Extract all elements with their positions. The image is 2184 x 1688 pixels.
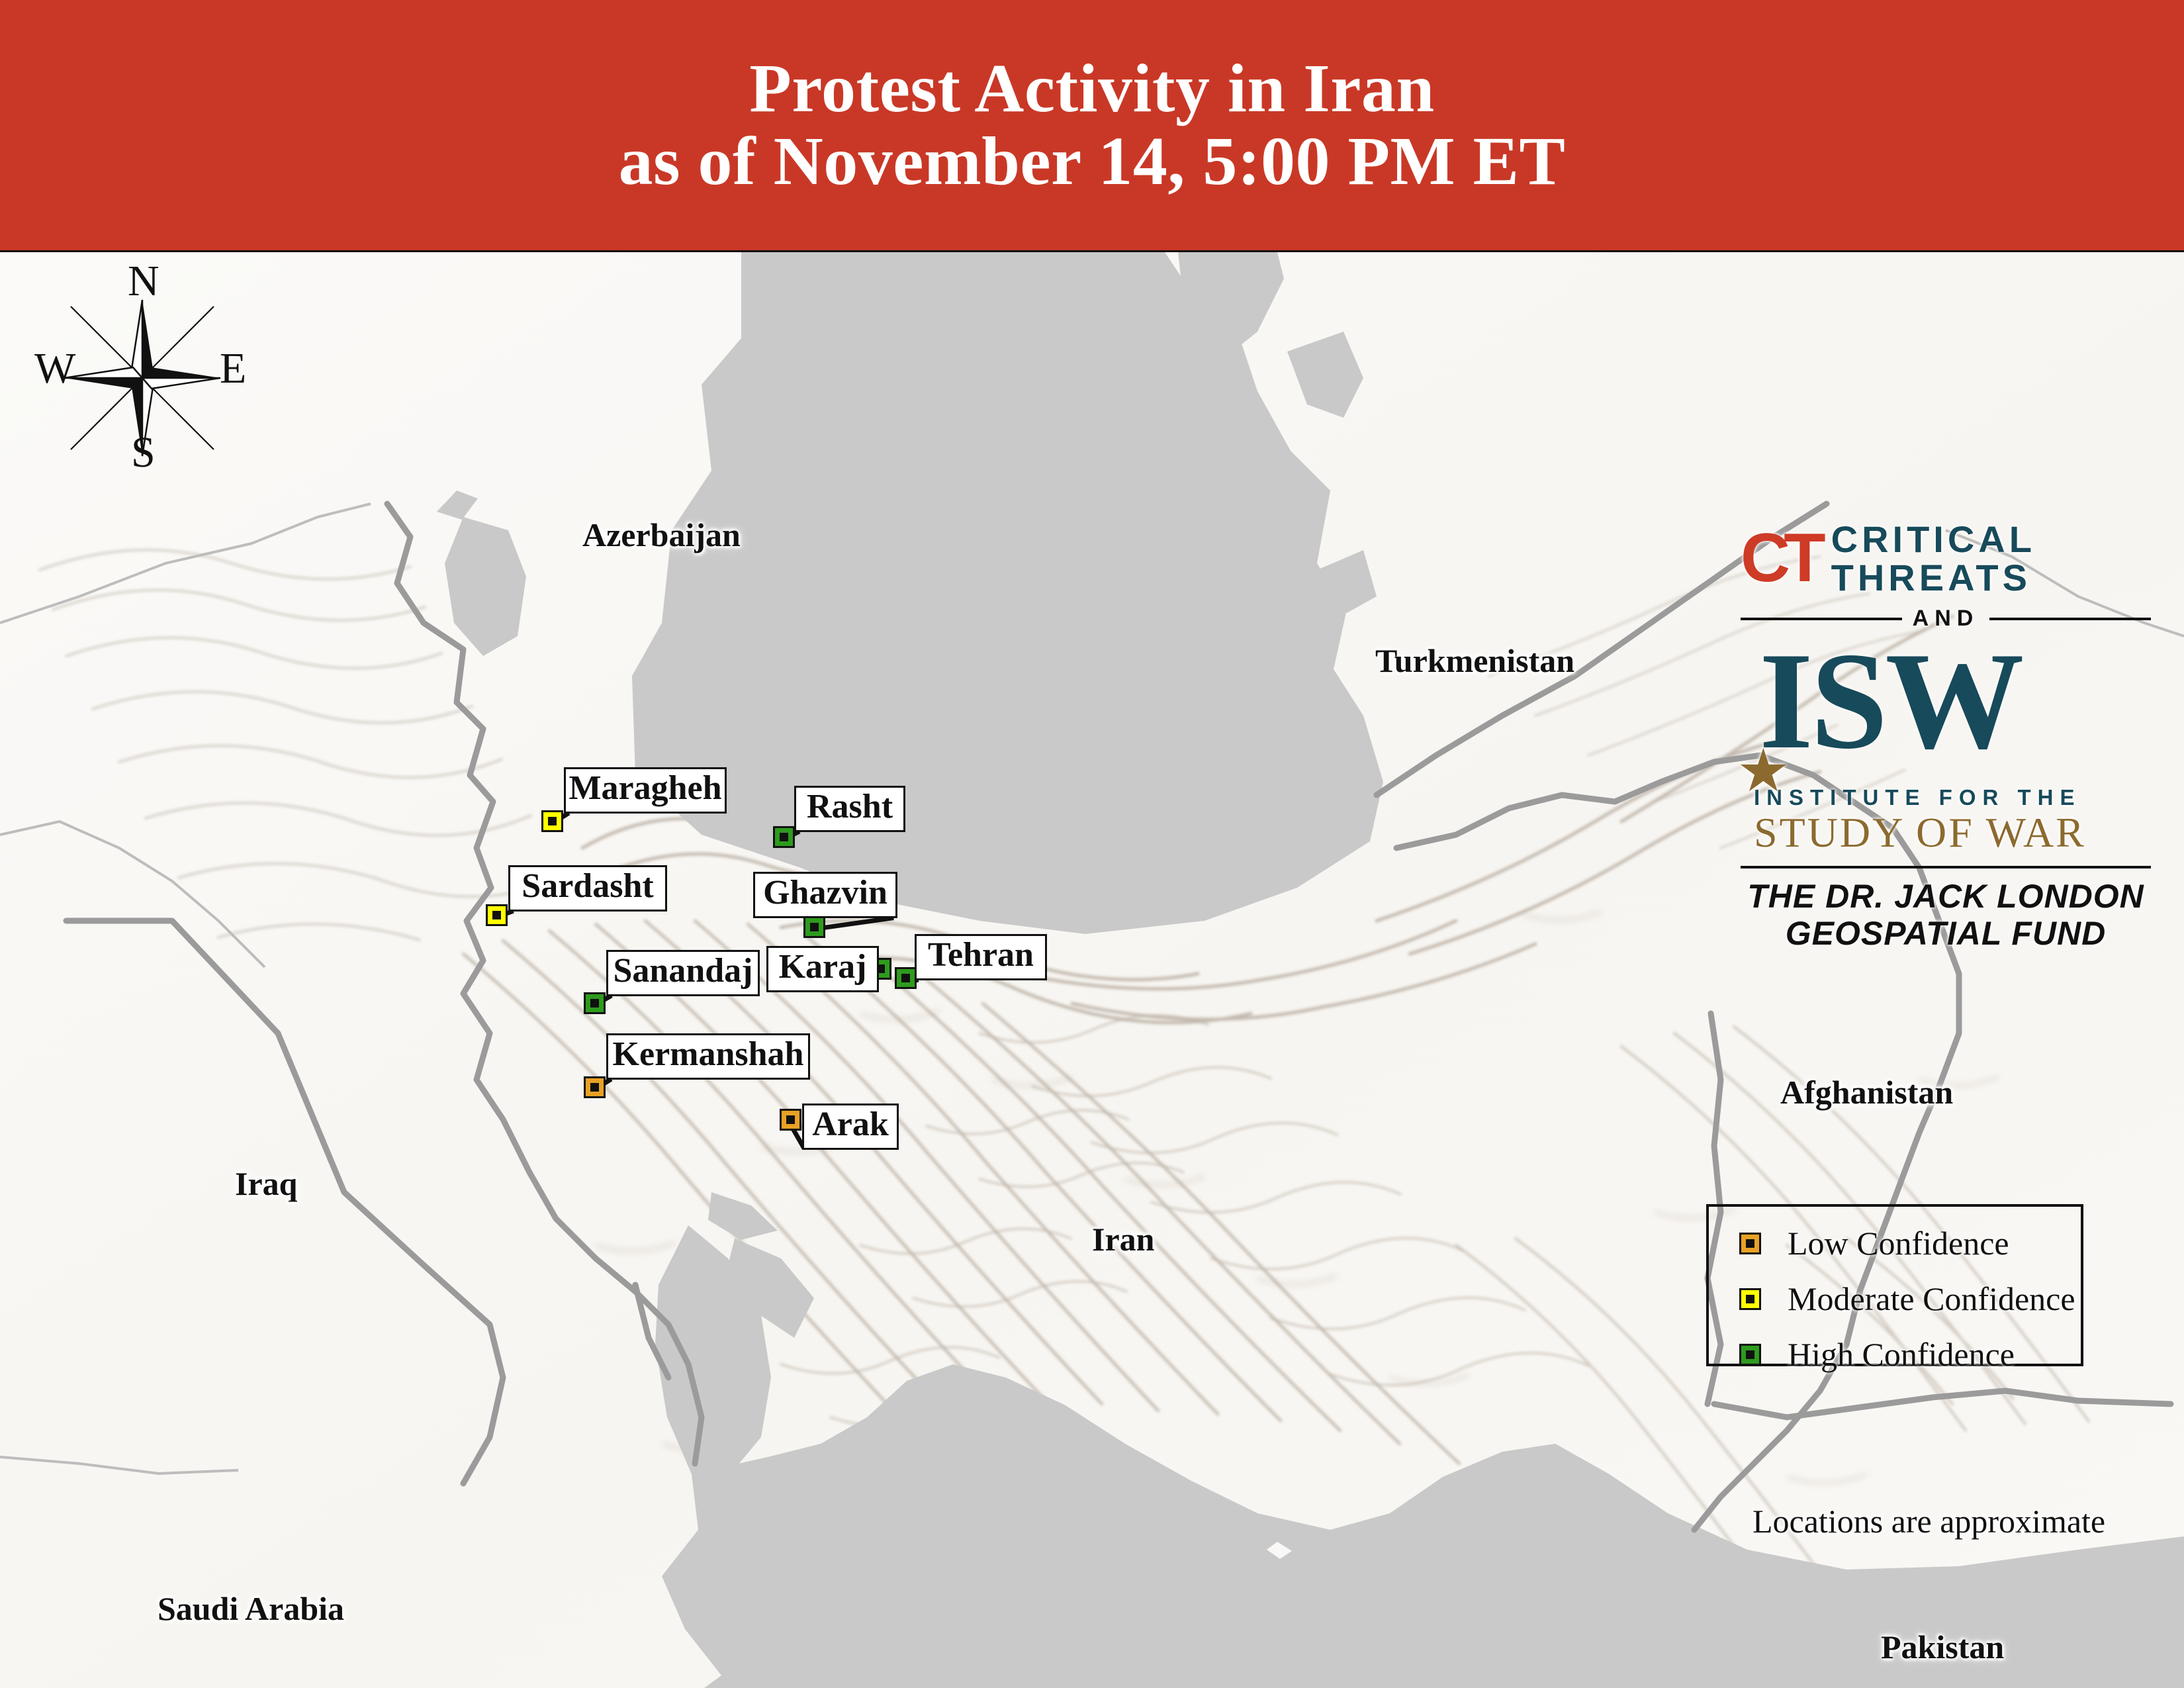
marker-center-dot-icon: [901, 974, 910, 982]
city-label-kermanshah: Kermanshah: [613, 1037, 804, 1072]
marker-center-dot-icon: [590, 1083, 599, 1092]
isw-subtitle: INSTITUTE FOR THE STUDY OF WAR: [1741, 785, 2151, 855]
country-label-afghanistan: Afghanistan: [1780, 1073, 1953, 1111]
isw-subtitle-line-2: STUDY OF WAR: [1754, 810, 2086, 855]
and-rule-right: [1989, 618, 2151, 620]
ct-word-threats: THREATS: [1831, 559, 2036, 597]
country-label-turkmenistan: Turkmenistan: [1375, 641, 1574, 680]
and-rule-left: [1741, 618, 1902, 620]
marker-center-dot-icon: [548, 817, 557, 825]
city-marker-kermanshah[interactable]: [584, 1076, 606, 1098]
marker-center-dot-icon: [786, 1115, 795, 1124]
city-label-box-karaj[interactable]: Karaj: [766, 946, 879, 992]
city-label-box-maragheh[interactable]: Maragheh: [564, 767, 727, 814]
geospatial-fund-credit: THE DR. JACK LONDON GEOSPATIAL FUND: [1741, 878, 2151, 952]
city-marker-ghazvin[interactable]: [803, 916, 825, 938]
legend-swatch-high: [1739, 1344, 1761, 1366]
compass-east-label: E: [220, 344, 246, 394]
city-label-box-tehran[interactable]: Tehran: [915, 934, 1047, 980]
fund-line-1: THE DR. JACK LONDON: [1747, 878, 2144, 915]
country-label-iraq: Iraq: [235, 1164, 297, 1203]
legend-swatch-dot-icon: [1746, 1350, 1754, 1359]
city-marker-tehran[interactable]: [895, 967, 917, 989]
city-label-box-arak[interactable]: Arak: [802, 1103, 899, 1150]
legend-label-low: Low Confidence: [1788, 1224, 2009, 1262]
city-label-box-sanandaj[interactable]: Sanandaj: [606, 950, 760, 996]
city-label-box-rasht[interactable]: Rasht: [794, 786, 905, 832]
compass-north-label: N: [128, 256, 159, 306]
compass-west-label: W: [34, 344, 75, 394]
page-title-line-1: Protest Activity in Iran: [749, 52, 1435, 125]
city-marker-arak[interactable]: [780, 1109, 801, 1131]
city-label-karaj: Karaj: [779, 949, 867, 984]
fund-divider-rule: [1741, 866, 2151, 868]
legend-row-high: High Confidence: [1739, 1335, 2081, 1374]
compass-south-label: S: [131, 428, 156, 478]
map-basemap: [0, 252, 2184, 1688]
city-label-maragheh: Maragheh: [569, 771, 721, 806]
city-label-box-sardasht[interactable]: Sardasht: [508, 865, 667, 912]
compass-rose: N S W E: [40, 259, 245, 477]
city-label-box-kermanshah[interactable]: Kermanshah: [606, 1033, 810, 1080]
title-banner: Protest Activity in Iran as of November …: [0, 0, 2184, 250]
city-label-arak: Arak: [812, 1107, 889, 1142]
marker-center-dot-icon: [780, 833, 788, 841]
city-label-tehran: Tehran: [928, 937, 1034, 972]
ct-monogram-icon: CT: [1741, 528, 1819, 590]
city-marker-rasht[interactable]: [773, 826, 795, 848]
city-label-rasht: Rasht: [807, 789, 893, 824]
country-label-pakistan: Pakistan: [1881, 1628, 2004, 1666]
city-marker-sardasht[interactable]: [486, 904, 508, 926]
city-label-sardasht: Sardasht: [522, 868, 653, 904]
organization-logo-block: CT CRITICAL THREATS AND ISW INSTITUTE FO…: [1741, 520, 2151, 952]
legend-row-moderate: Moderate Confidence: [1739, 1280, 2081, 1318]
critical-threats-logo: CT CRITICAL THREATS: [1741, 520, 2151, 596]
marker-center-dot-icon: [810, 923, 819, 931]
legend-swatch-moderate: [1739, 1288, 1761, 1310]
legend-swatch-low: [1739, 1233, 1761, 1254]
legend-swatch-dot-icon: [1746, 1239, 1754, 1248]
city-marker-maragheh[interactable]: [541, 810, 563, 832]
legend-label-high: High Confidence: [1788, 1335, 2015, 1374]
map-canvas[interactable]: N S W E AzerbaijanTurkmenistanAfghanista…: [0, 250, 2184, 1688]
page-title-line-2: as of November 14, 5:00 PM ET: [619, 125, 1566, 198]
marker-center-dot-icon: [492, 911, 501, 919]
map-page: Protest Activity in Iran as of November …: [0, 0, 2184, 1688]
ct-word-critical: CRITICAL: [1831, 520, 2036, 559]
city-marker-sanandaj[interactable]: [584, 992, 606, 1014]
legend-label-moderate: Moderate Confidence: [1788, 1280, 2075, 1318]
city-label-sanandaj: Sanandaj: [614, 953, 753, 988]
isw-logo: ISW: [1741, 638, 2151, 790]
country-label-iran: Iran: [1092, 1220, 1154, 1258]
country-label-saudi-arabia: Saudi Arabia: [158, 1589, 344, 1628]
marker-center-dot-icon: [590, 999, 599, 1008]
city-label-box-ghazvin[interactable]: Ghazvin: [753, 872, 897, 918]
fund-line-2: GEOSPATIAL FUND: [1786, 915, 2106, 952]
isw-monogram: ISW: [1759, 632, 2022, 771]
map-legend: Low ConfidenceModerate ConfidenceHigh Co…: [1706, 1204, 2083, 1366]
legend-row-low: Low Confidence: [1739, 1224, 2081, 1262]
city-label-ghazvin: Ghazvin: [763, 875, 887, 910]
country-label-azerbaijan: Azerbaijan: [582, 516, 741, 554]
locations-approximate-note: Locations are approximate: [1752, 1502, 2105, 1540]
legend-swatch-dot-icon: [1746, 1295, 1754, 1303]
